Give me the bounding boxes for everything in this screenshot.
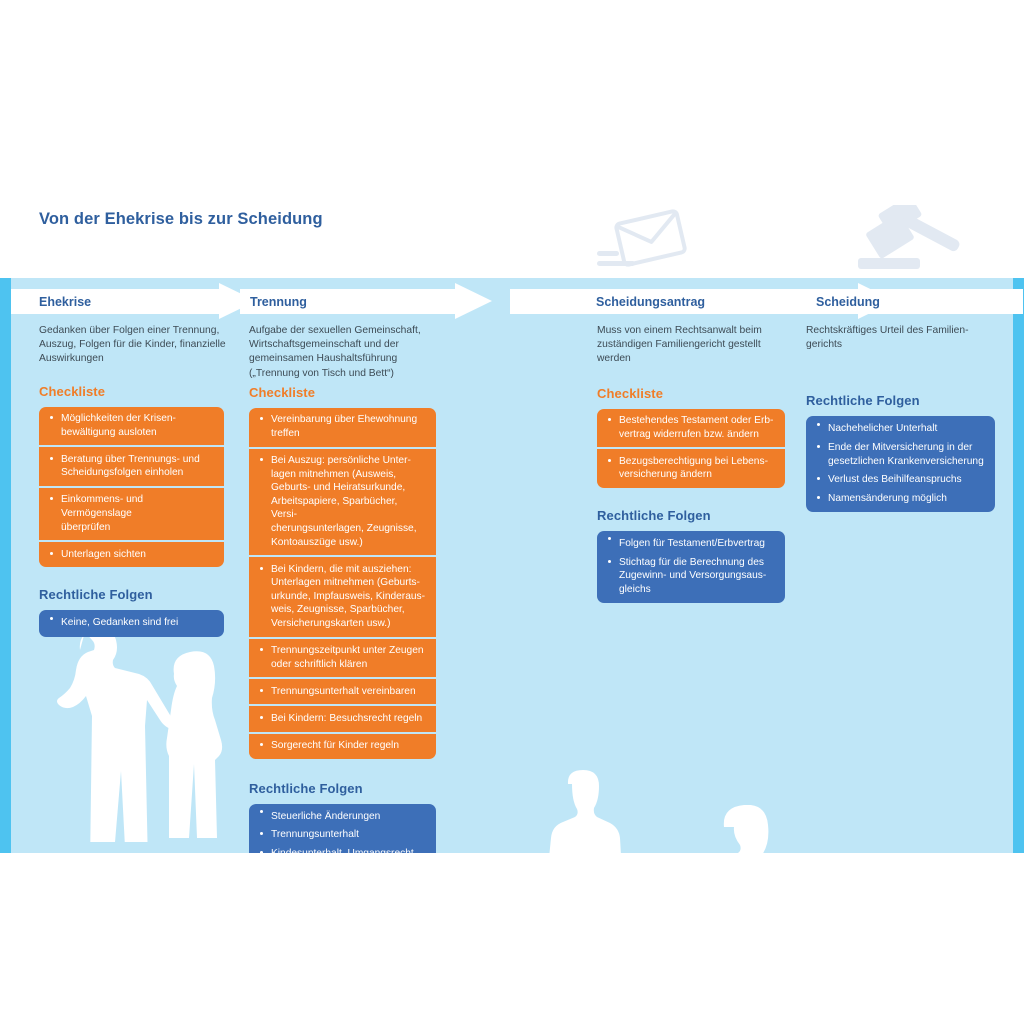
consequences-item[interactable]: Steuerliche Änderungen bbox=[249, 804, 436, 826]
checklist-item-text: Unterlagen sichten bbox=[61, 549, 146, 560]
consequences-item[interactable]: Verlust des Beihilfeanspruchs bbox=[806, 471, 995, 490]
consequences-card: Keine, Gedanken sind frei bbox=[39, 610, 224, 637]
consequences-heading: Rechtliche Folgen bbox=[39, 587, 235, 602]
envelope-icon bbox=[596, 205, 688, 284]
bullet-icon bbox=[50, 416, 53, 419]
stage-column-scheidungsantrag: Muss von einem Rechtsanwalt beim zuständ… bbox=[597, 324, 797, 603]
bullet-icon bbox=[817, 445, 820, 448]
arrow-head-icon bbox=[455, 283, 492, 319]
stage-column-ehekrise: Gedanken über Folgen einer Trennung, Aus… bbox=[39, 324, 235, 637]
consequences-item-text: Keine, Gedanken sind frei bbox=[61, 617, 178, 628]
consequences-item[interactable]: Ende der Mitversicherung in der gesetzli… bbox=[806, 439, 995, 471]
bullet-icon bbox=[50, 552, 53, 555]
bullet-icon bbox=[817, 423, 820, 426]
checklist-item[interactable]: Bestehendes Testament oder Erb- vertrag … bbox=[597, 409, 785, 448]
consequences-card: Nachehelicher Unterhalt Ende der Mitvers… bbox=[806, 416, 995, 512]
checklist-card: Vereinbarung über Ehewohnung treffen Bei… bbox=[249, 408, 436, 759]
stage-banner-label: Scheidung bbox=[816, 295, 880, 309]
consequences-item-text: Folgen für Testament/Erbvertrag bbox=[619, 538, 765, 549]
stage-banner-ehekrise[interactable]: Ehekrise bbox=[11, 289, 219, 314]
bullet-icon bbox=[260, 716, 263, 719]
stage-banner-trennung[interactable]: Trennung bbox=[240, 289, 455, 314]
bullet-icon bbox=[260, 417, 263, 420]
consequences-item[interactable]: Folgen für Testament/Erbvertrag bbox=[597, 531, 785, 553]
stage-column-scheidung: Rechtskräftiges Urteil des Familien- ger… bbox=[806, 324, 1006, 512]
consequences-item[interactable]: Nachehelicher Unterhalt bbox=[806, 416, 995, 438]
bullet-icon bbox=[260, 567, 263, 570]
bullet-icon bbox=[817, 496, 820, 499]
checklist-item-text: Bezugsberechtigung bei Lebens- versicher… bbox=[619, 456, 768, 481]
stage-intro: Rechtskräftiges Urteil des Familien- ger… bbox=[806, 324, 1006, 352]
checklist-item-text: Bei Kindern, die mit ausziehen: Unterlag… bbox=[271, 564, 425, 629]
checklist-heading: Checkliste bbox=[249, 385, 449, 400]
stage-intro: Muss von einem Rechtsanwalt beim zuständ… bbox=[597, 324, 797, 367]
consequences-item-text: Verlust des Beihilfeanspruchs bbox=[828, 474, 962, 485]
checklist-item[interactable]: Möglichkeiten der Krisen- bewältigung au… bbox=[39, 407, 224, 446]
checklist-item-text: Vereinbarung über Ehewohnung treffen bbox=[271, 414, 417, 439]
left-accent-rail bbox=[0, 205, 11, 853]
bullet-icon bbox=[608, 418, 611, 421]
bullet-icon bbox=[260, 458, 263, 461]
bullet-icon bbox=[260, 743, 263, 746]
poster-header: Von der Ehekrise bis zur Scheidung bbox=[0, 205, 1024, 278]
checklist-item-text: Einkommens- und Vermögenslage überprüfen bbox=[61, 494, 143, 532]
page-title: Von der Ehekrise bis zur Scheidung bbox=[39, 210, 323, 229]
consequences-item-text: Nachehelicher Unterhalt bbox=[828, 423, 937, 434]
checklist-item-text: Bei Kindern: Besuchsrecht regeln bbox=[271, 713, 422, 724]
bullet-icon bbox=[260, 810, 263, 813]
checklist-item[interactable]: Unterlagen sichten bbox=[39, 540, 224, 567]
gavel-icon bbox=[848, 205, 960, 286]
checklist-item[interactable]: Einkommens- und Vermögenslage überprüfen bbox=[39, 486, 224, 540]
checklist-heading: Checkliste bbox=[39, 384, 235, 399]
bullet-icon bbox=[608, 537, 611, 540]
checklist-item-text: Bestehendes Testament oder Erb- vertrag … bbox=[619, 415, 773, 440]
checklist-card: Bestehendes Testament oder Erb- vertrag … bbox=[597, 409, 785, 488]
bullet-icon bbox=[608, 560, 611, 563]
checklist-item[interactable]: Vereinbarung über Ehewohnung treffen bbox=[249, 408, 436, 447]
consequences-item[interactable]: Trennungsunterhalt bbox=[249, 826, 436, 845]
infographic-poster: Von der Ehekrise bis zur Scheidung bbox=[0, 205, 1024, 853]
stage-column-trennung: Aufgabe der sexuellen Gemeinschaft, Wirt… bbox=[249, 324, 449, 853]
checklist-card: Möglichkeiten der Krisen- bewältigung au… bbox=[39, 407, 224, 568]
stage-banner-label: Trennung bbox=[250, 295, 307, 309]
consequences-heading: Rechtliche Folgen bbox=[597, 508, 797, 523]
bullet-icon bbox=[260, 851, 263, 853]
checklist-heading: Checkliste bbox=[597, 386, 797, 401]
checklist-item-text: Beratung über Trennungs- und Scheidungsf… bbox=[61, 454, 200, 479]
checklist-item[interactable]: Trennungszeitpunkt unter Zeugen oder sch… bbox=[249, 637, 436, 678]
bullet-icon bbox=[50, 497, 53, 500]
checklist-item[interactable]: Trennungsunterhalt vereinbaren bbox=[249, 677, 436, 704]
consequences-item-text: Namensänderung möglich bbox=[828, 493, 947, 504]
consequences-item[interactable]: Stichtag für die Berechnung des Zugewinn… bbox=[597, 553, 785, 603]
consequences-item-text: Steuerliche Änderungen bbox=[271, 811, 380, 822]
stage-intro: Gedanken über Folgen einer Trennung, Aus… bbox=[39, 324, 235, 367]
stage-intro: Aufgabe der sexuellen Gemeinschaft, Wirt… bbox=[249, 324, 449, 381]
consequences-item-text: Ende der Mitversicherung in der gesetzli… bbox=[828, 442, 984, 467]
consequences-item-text: Trennungsunterhalt bbox=[271, 829, 359, 840]
consequences-heading: Rechtliche Folgen bbox=[249, 781, 449, 796]
bullet-icon bbox=[608, 459, 611, 462]
checklist-item[interactable]: Bei Auszug: persönliche Unter- lagen mit… bbox=[249, 447, 436, 556]
checklist-item-text: Sorgerecht für Kinder regeln bbox=[271, 740, 399, 751]
stage-banner-scheidung[interactable]: Scheidung bbox=[806, 289, 1023, 314]
checklist-item[interactable]: Bei Kindern, die mit ausziehen: Unterlag… bbox=[249, 555, 436, 636]
consequences-card: Folgen für Testament/Erbvertrag Stichtag… bbox=[597, 531, 785, 603]
consequences-heading: Rechtliche Folgen bbox=[806, 393, 1006, 408]
consequences-item[interactable]: Namensänderung möglich bbox=[806, 489, 995, 512]
checklist-item-text: Trennungszeitpunkt unter Zeugen oder sch… bbox=[271, 645, 424, 670]
bullet-icon bbox=[260, 648, 263, 651]
bullet-icon bbox=[50, 617, 53, 620]
bullet-icon bbox=[817, 477, 820, 480]
checklist-item-text: Trennungsunterhalt vereinbaren bbox=[271, 686, 416, 697]
stage-banner-label: Scheidungsantrag bbox=[596, 295, 705, 309]
bullet-icon bbox=[260, 832, 263, 835]
checklist-item[interactable]: Beratung über Trennungs- und Scheidungsf… bbox=[39, 445, 224, 486]
bullet-icon bbox=[260, 689, 263, 692]
checklist-item[interactable]: Sorgerecht für Kinder regeln bbox=[249, 732, 436, 759]
consequences-item[interactable]: Kindesunterhalt, Umgangsrecht bbox=[249, 844, 436, 853]
consequences-card: Steuerliche Änderungen Trennungsunterhal… bbox=[249, 804, 436, 853]
consequences-item[interactable]: Keine, Gedanken sind frei bbox=[39, 610, 224, 637]
consequences-item-text: Kindesunterhalt, Umgangsrecht bbox=[271, 848, 414, 853]
checklist-item-text: Möglichkeiten der Krisen- bewältigung au… bbox=[61, 413, 176, 438]
stage-banner-label: Ehekrise bbox=[39, 295, 91, 309]
consequences-item-text: Stichtag für die Berechnung des Zugewinn… bbox=[619, 557, 766, 595]
checklist-item[interactable]: Bezugsberechtigung bei Lebens- versicher… bbox=[597, 447, 785, 488]
checklist-item[interactable]: Bei Kindern: Besuchsrecht regeln bbox=[249, 704, 436, 731]
checklist-item-text: Bei Auszug: persönliche Unter- lagen mit… bbox=[271, 455, 417, 548]
bullet-icon bbox=[50, 457, 53, 460]
